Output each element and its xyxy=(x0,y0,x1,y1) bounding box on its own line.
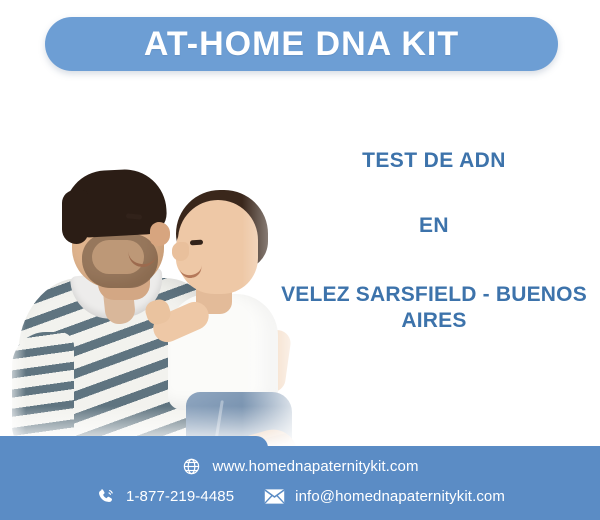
envelope-icon xyxy=(264,486,285,507)
footer-contact-rows: www.homednapaternitykit.com 1-877-219-44… xyxy=(0,436,600,520)
footer: www.homednapaternitykit.com 1-877-219-44… xyxy=(0,436,600,520)
footer-row-phone-email: 1-877-219-4485 info@homednapaternitykit.… xyxy=(0,486,600,507)
footer-phone-item[interactable]: 1-877-219-4485 xyxy=(95,486,234,507)
phone-icon xyxy=(95,486,116,507)
footer-email-text: info@homednapaternitykit.com xyxy=(295,488,505,505)
footer-website-text: www.homednapaternitykit.com xyxy=(212,458,418,475)
child-nose xyxy=(172,242,189,261)
header-banner-pill: AT-HOME DNA KIT xyxy=(45,17,558,71)
child-eye xyxy=(190,240,203,246)
headline-location: VELEZ SARSFIELD - BUENOS AIRES xyxy=(248,282,600,335)
footer-website-item[interactable]: www.homednapaternitykit.com xyxy=(181,456,418,477)
headline-block: TEST DE ADN EN VELEZ SARSFIELD - BUENOS … xyxy=(268,150,600,335)
man-nose xyxy=(150,222,170,246)
globe-icon xyxy=(181,456,202,477)
photo-edge-fade-left xyxy=(0,82,26,452)
dna-kit-banner: AT-HOME DNA KIT xyxy=(0,0,600,520)
footer-phone-text: 1-877-219-4485 xyxy=(126,488,234,505)
man-sideburn xyxy=(62,190,88,244)
header-title: AT-HOME DNA KIT xyxy=(144,27,459,61)
headline-preposition: EN xyxy=(268,215,600,236)
footer-email-item[interactable]: info@homednapaternitykit.com xyxy=(264,486,505,507)
footer-row-website: www.homednapaternitykit.com xyxy=(0,456,600,477)
headline-service: TEST DE ADN xyxy=(268,150,600,171)
